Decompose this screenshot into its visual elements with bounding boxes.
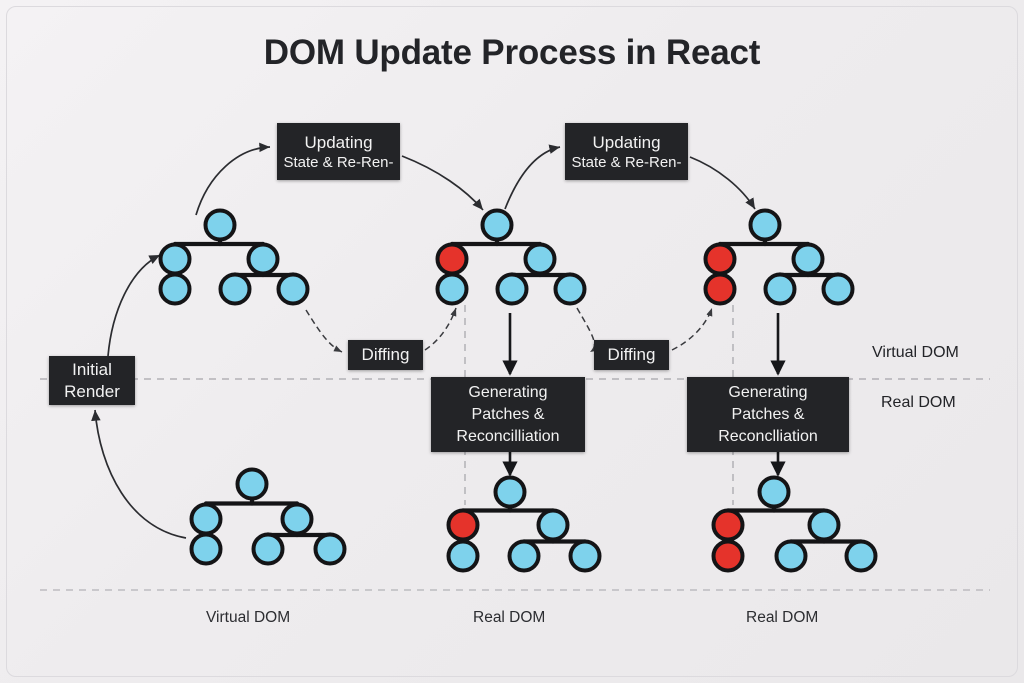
real-dom-tree-2 [449, 478, 600, 571]
box-diffing-1[interactable]: Diffing [348, 340, 423, 370]
tree-node-leaf-1[interactable] [438, 275, 467, 304]
tree-node-root[interactable] [206, 211, 235, 240]
virtual-dom-tree-2 [438, 211, 585, 304]
updating-1-line1: Updating [304, 132, 372, 153]
bottom-label-1: Real DOM [473, 609, 545, 627]
tree-node-child-left[interactable] [449, 511, 478, 540]
tree-node-leaf-2[interactable] [498, 275, 527, 304]
tree-node-child-left[interactable] [706, 245, 735, 274]
tree-node-leaf-1[interactable] [714, 542, 743, 571]
tree-node-leaf-1[interactable] [161, 275, 190, 304]
tree-node-child-left[interactable] [714, 511, 743, 540]
tree-node-leaf-1[interactable] [192, 535, 221, 564]
tree-node-child-right[interactable] [249, 245, 278, 274]
virtual-dom-tree-1 [161, 211, 308, 304]
box-generating-patches-2[interactable]: Generating Patches & Reconclliation [687, 377, 849, 452]
arrow-vdom1-to-updating1 [196, 147, 270, 215]
real-dom-tree-3 [714, 478, 876, 571]
diagram-graphics [0, 0, 1024, 683]
initial-render-line1: Initial [72, 359, 112, 381]
tree-node-root[interactable] [751, 211, 780, 240]
arrow-updating2-to-vdom3 [690, 157, 755, 209]
tree-node-child-right[interactable] [810, 511, 839, 540]
tree-node-leaf-2[interactable] [254, 535, 283, 564]
tree-node-child-left[interactable] [192, 505, 221, 534]
bottom-label-2: Real DOM [746, 609, 818, 627]
generating-1-line3: Reconcilliation [456, 426, 559, 448]
generating-2-line1: Generating [728, 382, 807, 404]
tree-node-root[interactable] [238, 470, 267, 499]
tree-node-leaf-3[interactable] [824, 275, 853, 304]
box-updating-2[interactable]: Updating State & Re-Ren- [565, 123, 688, 180]
tree-node-root[interactable] [760, 478, 789, 507]
tree-node-child-right[interactable] [794, 245, 823, 274]
tree-node-child-left[interactable] [161, 245, 190, 274]
box-generating-patches-1[interactable]: Generating Patches & Reconcilliation [431, 377, 585, 452]
tree-node-child-right[interactable] [539, 511, 568, 540]
updating-1-line2: State & Re-Ren- [283, 153, 393, 172]
label-virtual-dom-side: Virtual DOM [872, 344, 959, 362]
tree-node-leaf-1[interactable] [449, 542, 478, 571]
box-diffing-2[interactable]: Diffing [594, 340, 669, 370]
arrow-vdom2-to-diffing2 [577, 308, 594, 352]
box-updating-1[interactable]: Updating State & Re-Ren- [277, 123, 400, 180]
tree-node-leaf-3[interactable] [279, 275, 308, 304]
tree-node-leaf-2[interactable] [766, 275, 795, 304]
initial-render-line2: Render [64, 381, 120, 403]
diffing-2-label: Diffing [608, 345, 656, 365]
tree-node-leaf-3[interactable] [847, 542, 876, 571]
tree-node-leaf-2[interactable] [221, 275, 250, 304]
tree-node-child-right[interactable] [526, 245, 555, 274]
box-initial-render[interactable]: Initial Render [49, 356, 135, 405]
generating-2-line3: Reconclliation [718, 426, 818, 448]
tree-node-leaf-3[interactable] [316, 535, 345, 564]
label-real-dom-side: Real DOM [881, 394, 956, 412]
arrow-diffing2-to-vdom3 [672, 308, 712, 350]
arrow-initial-to-vdom1 [108, 255, 160, 356]
arrow-vdom1-to-diffing1 [306, 310, 342, 352]
arrow-diffing1-to-vdom2 [425, 308, 456, 350]
generating-1-line1: Generating [468, 382, 547, 404]
tree-node-root[interactable] [496, 478, 525, 507]
tree-node-leaf-2[interactable] [510, 542, 539, 571]
diffing-1-label: Diffing [362, 345, 410, 365]
tree-node-leaf-2[interactable] [777, 542, 806, 571]
generating-2-line2: Patches & [732, 404, 805, 426]
arrow-updating1-to-vdom2 [402, 156, 483, 210]
updating-2-line2: State & Re-Ren- [571, 153, 681, 172]
tree-node-child-left[interactable] [438, 245, 467, 274]
tree-node-leaf-3[interactable] [571, 542, 600, 571]
bottom-label-0: Virtual DOM [206, 609, 290, 627]
tree-node-leaf-1[interactable] [706, 275, 735, 304]
tree-node-root[interactable] [483, 211, 512, 240]
arrow-vdom2-to-updating2 [505, 147, 560, 209]
arrow-realdom1-to-initial [95, 410, 186, 538]
real-dom-tree-1 [192, 470, 345, 564]
updating-2-line1: Updating [592, 132, 660, 153]
tree-node-leaf-3[interactable] [556, 275, 585, 304]
virtual-dom-tree-3 [706, 211, 853, 304]
tree-node-child-right[interactable] [283, 505, 312, 534]
diagram-canvas: DOM Update Process in React [0, 0, 1024, 683]
generating-1-line2: Patches & [472, 404, 545, 426]
